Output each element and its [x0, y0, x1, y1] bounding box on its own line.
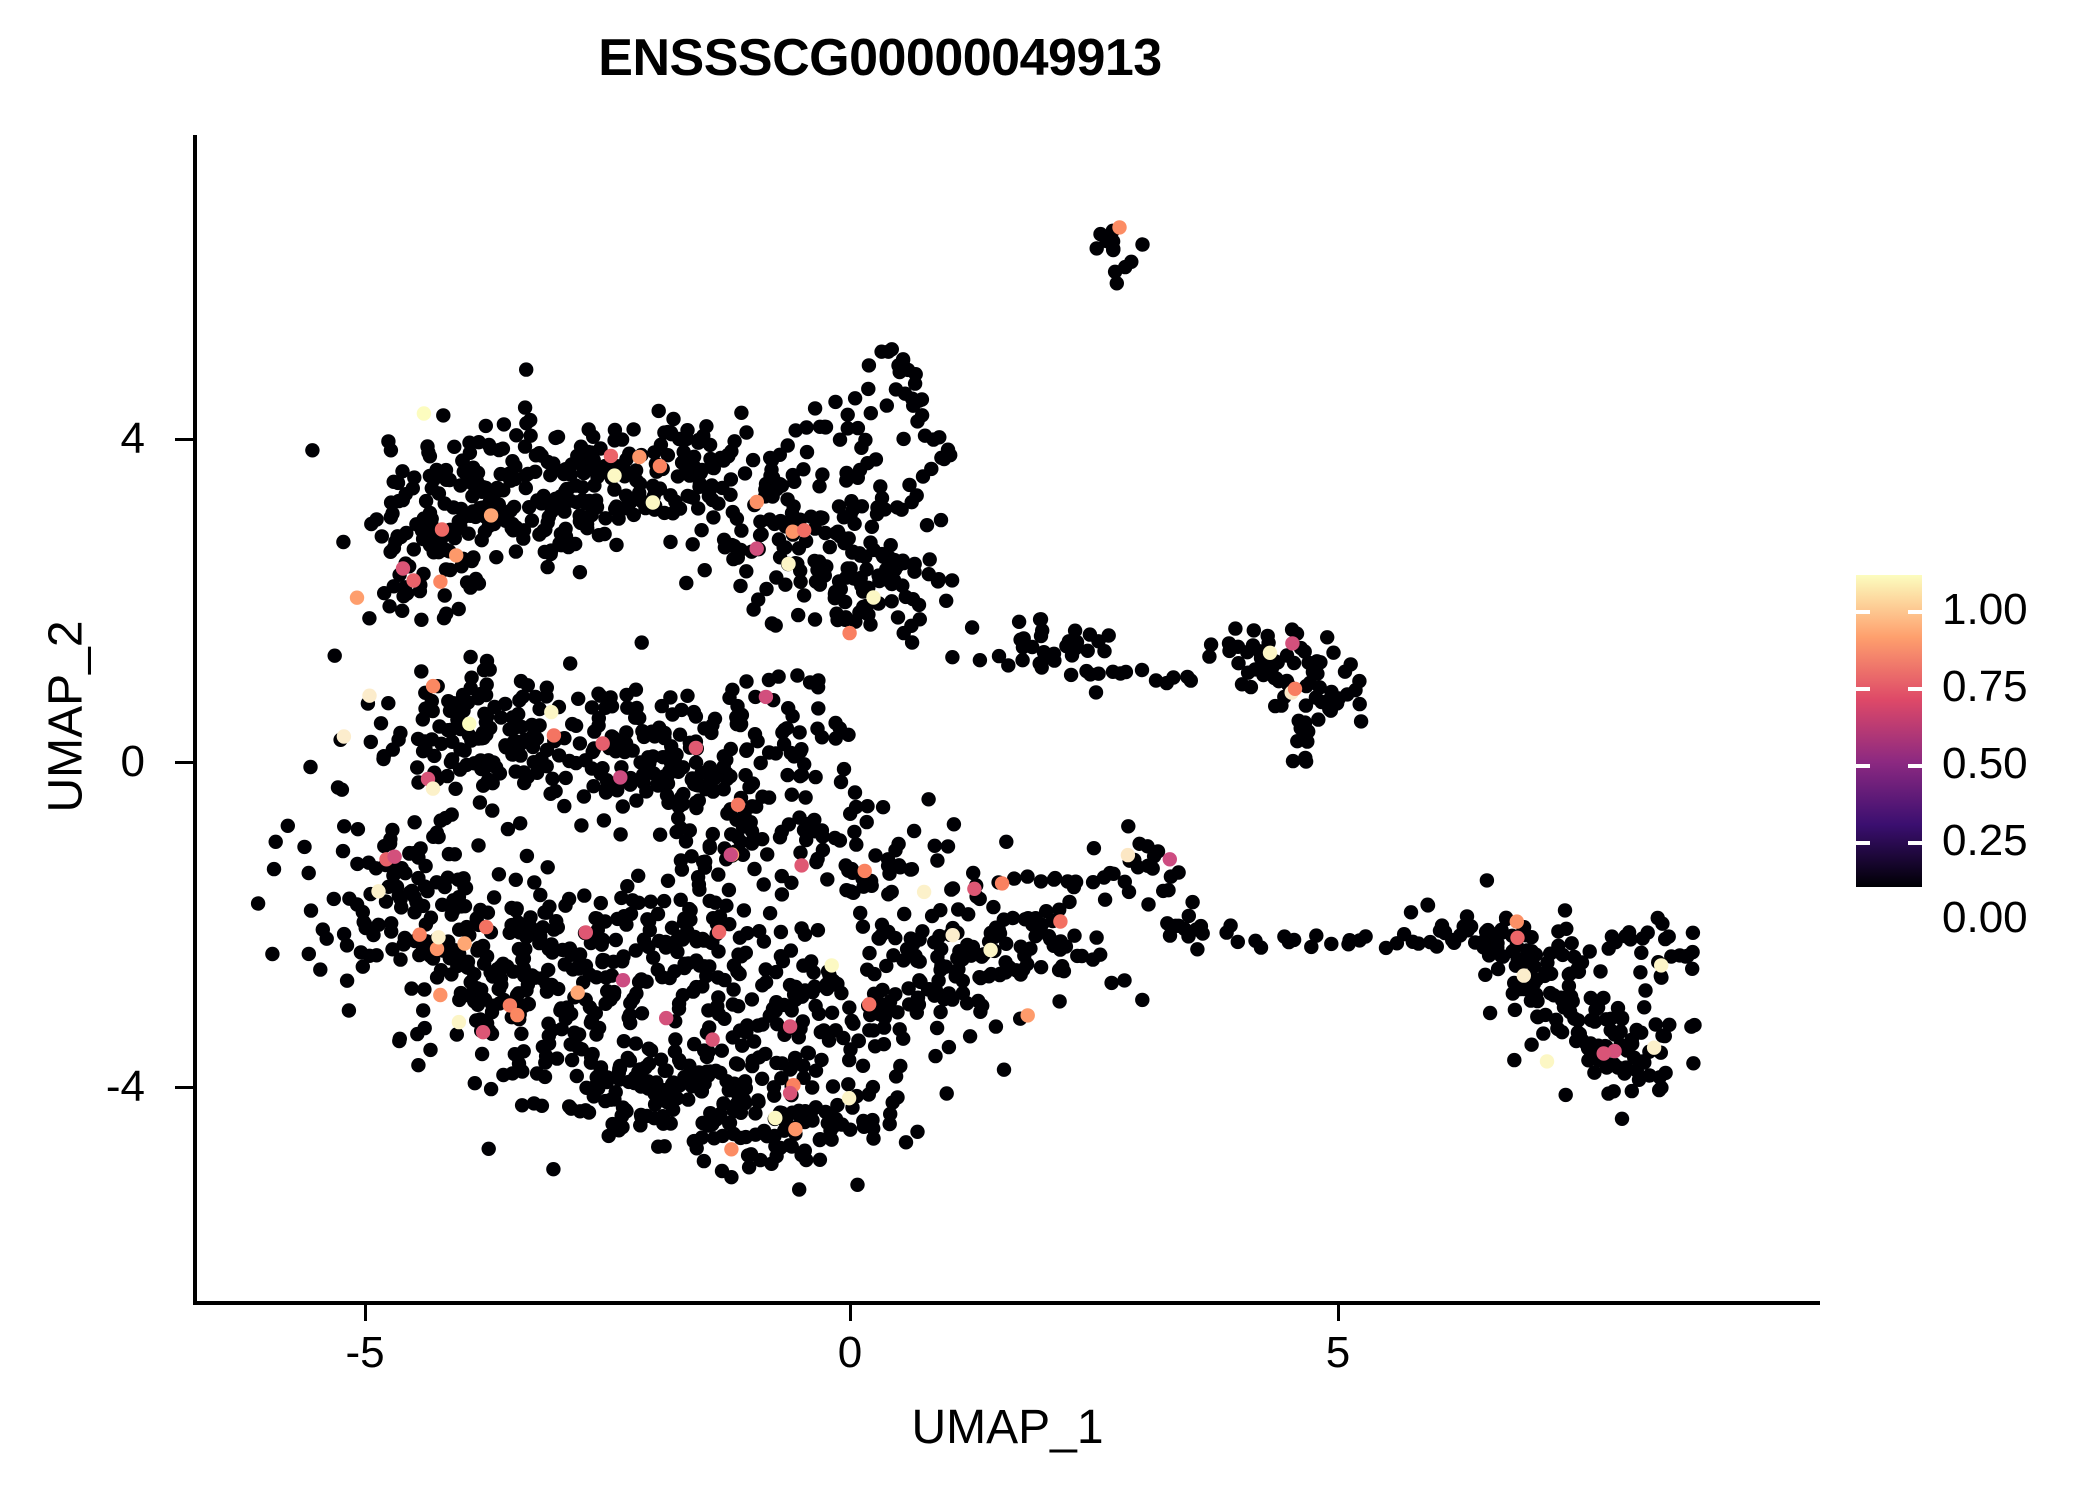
scatter-point: [583, 967, 597, 981]
scatter-point: [593, 766, 607, 780]
scatter-point: [740, 926, 754, 940]
scatter-point: [712, 925, 726, 939]
scatter-point: [815, 511, 829, 525]
scatter-point: [805, 1113, 819, 1127]
scatter-point: [529, 721, 543, 735]
scatter-point: [805, 985, 819, 999]
scatter-point: [1358, 929, 1372, 943]
scatter-point: [1146, 861, 1160, 875]
scatter-point: [879, 959, 893, 973]
scatter-point: [613, 1061, 627, 1075]
scatter-point: [599, 785, 613, 799]
scatter-point: [617, 1034, 631, 1048]
scatter-point: [868, 848, 882, 862]
scatter-point: [527, 875, 541, 889]
scatter-point: [676, 787, 690, 801]
scatter-point: [694, 523, 708, 537]
scatter-point: [679, 576, 693, 590]
scatter-point: [725, 683, 739, 697]
scatter-point: [760, 847, 774, 861]
scatter-point: [350, 857, 364, 871]
scatter-point: [934, 513, 948, 527]
scatter-point: [1642, 1068, 1656, 1082]
scatter-point: [888, 987, 902, 1001]
scatter-point: [1086, 952, 1100, 966]
scatter-point: [515, 953, 529, 967]
scatter-point: [997, 1063, 1011, 1077]
scatter-point: [839, 858, 853, 872]
scatter-point: [414, 613, 428, 627]
scatter-point: [1588, 1003, 1602, 1017]
scatter-point: [690, 778, 704, 792]
scatter-point: [1565, 936, 1579, 950]
scatter-point: [843, 807, 857, 821]
scatter-point: [657, 1139, 671, 1153]
y-tick-mark-0: [175, 761, 193, 764]
scatter-point: [861, 382, 875, 396]
scatter-point: [724, 1142, 738, 1156]
scatter-point: [461, 988, 475, 1002]
scatter-point: [904, 619, 918, 633]
scatter-point: [547, 922, 561, 936]
scatter-point: [1559, 1088, 1573, 1102]
scatter-point: [925, 909, 939, 923]
legend-tick-1: [1856, 610, 1922, 614]
scatter-point: [847, 517, 861, 531]
scatter-point: [1035, 660, 1049, 674]
scatter-point: [558, 899, 572, 913]
scatter-point: [793, 846, 807, 860]
scatter-point: [859, 562, 873, 576]
scatter-point: [666, 412, 680, 426]
scatter-point: [798, 790, 812, 804]
scatter-point: [1309, 928, 1323, 942]
scatter-point: [748, 1106, 762, 1120]
scatter-point: [639, 784, 653, 798]
scatter-point: [1185, 895, 1199, 909]
scatter-point: [1636, 931, 1650, 945]
scatter-point: [519, 930, 533, 944]
scatter-point: [525, 513, 539, 527]
scatter-point: [965, 620, 979, 634]
scatter-point: [811, 680, 825, 694]
scatter-point: [666, 1103, 680, 1117]
scatter-point: [429, 463, 443, 477]
scatter-point: [479, 920, 493, 934]
y-tick-mark-minus4: [175, 1086, 193, 1089]
scatter-point: [881, 573, 895, 587]
scatter-point: [785, 788, 799, 802]
scatter-point: [880, 398, 894, 412]
scatter-point: [597, 953, 611, 967]
scatter-point: [1231, 935, 1245, 949]
scatter-point: [825, 958, 839, 972]
scatter-point: [913, 954, 927, 968]
scatter-point: [689, 953, 703, 967]
scatter-point: [1121, 848, 1135, 862]
scatter-point: [528, 690, 542, 704]
scatter-point: [518, 400, 532, 414]
legend-label-075: 0.75: [1942, 665, 2028, 709]
scatter-point: [745, 992, 759, 1006]
scatter-point: [598, 997, 612, 1011]
scatter-point: [869, 452, 883, 466]
scatter-point: [590, 911, 604, 925]
scatter-point: [1686, 926, 1700, 940]
scatter-point: [503, 472, 517, 486]
scatter-point: [841, 421, 855, 435]
scatter-point: [471, 838, 485, 852]
scatter-point: [350, 897, 364, 911]
scatter-point: [808, 770, 822, 784]
scatter-point: [871, 931, 885, 945]
scatter-point: [852, 1034, 866, 1048]
scatter-point: [832, 499, 846, 513]
scatter-point: [1014, 940, 1028, 954]
scatter-point: [416, 1003, 430, 1017]
scatter-point: [626, 422, 640, 436]
scatter-point: [411, 871, 425, 885]
scatter-point: [773, 514, 787, 528]
scatter-point: [340, 938, 354, 952]
scatter-point: [267, 862, 281, 876]
scatter-point: [446, 500, 460, 514]
scatter-point: [1524, 930, 1538, 944]
scatter-point: [503, 926, 517, 940]
scatter-point: [1567, 1011, 1581, 1025]
scatter-point: [1655, 917, 1669, 931]
scatter-point: [447, 440, 461, 454]
scatter-point: [728, 1099, 742, 1113]
scatter-point: [1015, 653, 1029, 667]
scatter-point: [842, 1091, 856, 1105]
scatter-point: [477, 663, 491, 677]
scatter-point: [351, 822, 365, 836]
scatter-point: [587, 478, 601, 492]
scatter-point: [648, 483, 662, 497]
scatter-point: [510, 1008, 524, 1022]
scatter-point: [945, 650, 959, 664]
scatter-point: [793, 575, 807, 589]
scatter-point: [878, 502, 892, 516]
scatter-point: [1285, 636, 1299, 650]
scatter-point: [842, 1000, 856, 1014]
scatter-point: [731, 1057, 745, 1071]
scatter-point: [865, 520, 879, 534]
scatter-point: [828, 716, 842, 730]
scatter-point: [1348, 683, 1362, 697]
scatter-point: [946, 881, 960, 895]
scatter-point: [1117, 973, 1131, 987]
scatter-point: [731, 798, 745, 812]
scatter-point: [931, 973, 945, 987]
scatter-point: [812, 1007, 826, 1021]
scatter-point: [445, 735, 459, 749]
scatter-point: [1637, 1055, 1651, 1069]
scatter-point: [739, 564, 753, 578]
scatter-point: [342, 1003, 356, 1017]
scatter-point: [592, 1021, 606, 1035]
scatter-point: [723, 488, 737, 502]
scatter-point: [845, 1014, 859, 1028]
scatter-point: [808, 401, 822, 415]
scatter-point: [670, 945, 684, 959]
scatter-point: [1171, 865, 1185, 879]
scatter-point: [1231, 656, 1245, 670]
scatter-point: [1354, 714, 1368, 728]
scatter-point: [755, 832, 769, 846]
scatter-point: [415, 524, 429, 538]
scatter-point: [1508, 1003, 1522, 1017]
scatter-point: [927, 989, 941, 1003]
scatter-point: [1615, 1012, 1629, 1026]
scatter-point: [473, 795, 487, 809]
scatter-point: [742, 1160, 756, 1174]
scatter-point: [1135, 663, 1149, 677]
scatter-point: [778, 540, 792, 554]
scatter-point: [863, 617, 877, 631]
scatter-point: [1298, 715, 1312, 729]
scatter-point: [609, 933, 623, 947]
scatter-point: [639, 1074, 653, 1088]
scatter-point: [928, 1049, 942, 1063]
scatter-point: [375, 529, 389, 543]
scatter-point: [430, 970, 444, 984]
scatter-point: [951, 902, 965, 916]
scatter-point: [573, 509, 587, 523]
scatter-point: [356, 960, 370, 974]
scatter-point: [773, 477, 787, 491]
scatter-point: [912, 973, 926, 987]
scatter-point: [302, 947, 316, 961]
scatter-point: [362, 689, 376, 703]
scatter-point: [862, 358, 876, 372]
scatter-point: [705, 478, 719, 492]
scatter-point: [839, 610, 853, 624]
scatter-point: [613, 827, 627, 841]
scatter-point: [813, 1132, 827, 1146]
scatter-point: [464, 733, 478, 747]
scatter-point: [412, 928, 426, 942]
scatter-point: [860, 963, 874, 977]
scatter-point: [769, 746, 783, 760]
scatter-point: [403, 885, 417, 899]
scatter-point: [856, 920, 870, 934]
scatter-point: [444, 967, 458, 981]
scatter-point: [891, 610, 905, 624]
scatter-point: [550, 501, 564, 515]
scatter-point: [1184, 673, 1198, 687]
scatter-point: [452, 1015, 466, 1029]
scatter-point: [674, 893, 688, 907]
scatter-point: [475, 485, 489, 499]
scatter-point: [657, 894, 671, 908]
scatter-point: [479, 715, 493, 729]
scatter-point: [703, 841, 717, 855]
scatter-point: [1540, 1054, 1554, 1068]
scatter-point: [983, 943, 997, 957]
scatter-point: [712, 1007, 726, 1021]
scatter-point: [896, 352, 910, 366]
scatter-point: [1637, 1000, 1651, 1014]
scatter-point: [1524, 1038, 1538, 1052]
scatter-point: [1555, 1025, 1569, 1039]
scatter-point: [591, 718, 605, 732]
scatter-point: [1132, 837, 1146, 851]
scatter-point: [1404, 905, 1418, 919]
scatter-point: [750, 495, 764, 509]
scatter-point: [941, 839, 955, 853]
scatter-point: [1156, 884, 1170, 898]
scatter-point: [923, 552, 937, 566]
scatter-point: [796, 1014, 810, 1028]
scatter-point: [571, 985, 585, 999]
scatter-point: [890, 500, 904, 514]
scatter-point: [527, 1096, 541, 1110]
scatter-point: [924, 462, 938, 476]
scatter-point: [998, 965, 1012, 979]
scatter-point: [577, 789, 591, 803]
scatter-point: [570, 948, 584, 962]
scatter-point: [1662, 1018, 1676, 1032]
scatter-point: [850, 1178, 864, 1192]
scatter-point: [814, 1053, 828, 1067]
scatter-point: [734, 523, 748, 537]
scatter-point: [788, 1122, 802, 1136]
scatter-point: [823, 540, 837, 554]
scatter-point: [746, 1054, 760, 1068]
scatter-point: [413, 841, 427, 855]
scatter-point: [1001, 658, 1015, 672]
scatter-point: [785, 1003, 799, 1017]
scatter-point: [841, 1077, 855, 1091]
scatter-point: [739, 674, 753, 688]
scatter-point: [475, 1047, 489, 1061]
scatter-point: [587, 453, 601, 467]
scatter-point: [585, 700, 599, 714]
scatter-point: [1353, 697, 1367, 711]
scatter-point: [739, 1025, 753, 1039]
scatter-point: [739, 425, 753, 439]
scatter-point: [1478, 968, 1492, 982]
scatter-point: [706, 510, 720, 524]
scatter-point: [769, 618, 783, 632]
scatter-point: [384, 924, 398, 938]
scatter-point: [905, 635, 919, 649]
scatter-point: [651, 963, 665, 977]
scatter-point: [387, 850, 401, 864]
legend-label-025: 0.25: [1942, 819, 2028, 863]
scatter-point: [1638, 983, 1652, 997]
scatter-point: [726, 552, 740, 566]
scatter-point: [797, 757, 811, 771]
scatter-point: [509, 873, 523, 887]
scatter-point: [899, 1135, 913, 1149]
scatter-point: [1190, 942, 1204, 956]
scatter-point: [697, 1154, 711, 1168]
scatter-point: [1658, 1066, 1672, 1080]
scatter-point: [765, 453, 779, 467]
scatter-point: [493, 766, 507, 780]
scatter-point: [1067, 929, 1081, 943]
scatter-point: [485, 999, 499, 1013]
scatter-point: [711, 867, 725, 881]
scatter-point: [780, 768, 794, 782]
scatter-point: [705, 1032, 719, 1046]
scatter-point: [391, 476, 405, 490]
scatter-point: [1204, 637, 1218, 651]
scatter-point: [513, 816, 527, 830]
scatter-point: [843, 1123, 857, 1137]
scatter-point: [1021, 1008, 1035, 1022]
scatter-point: [562, 754, 576, 768]
scatter-point: [1097, 644, 1111, 658]
x-tick-mark-5: [1337, 1303, 1340, 1321]
y-axis-title: UMAP_2: [39, 417, 94, 1017]
scatter-point: [963, 1029, 977, 1043]
scatter-point: [828, 395, 842, 409]
scatter-point: [689, 755, 703, 769]
scatter-point: [573, 736, 587, 750]
scatter-point: [811, 923, 825, 937]
scatter-point: [582, 422, 596, 436]
scatter-point: [648, 729, 662, 743]
scatter-point: [362, 611, 376, 625]
scatter-point: [383, 545, 397, 559]
scatter-point: [733, 949, 747, 963]
scatter-point: [519, 362, 533, 376]
scatter-point: [493, 960, 507, 974]
scatter-point: [737, 903, 751, 917]
scatter-point: [1633, 965, 1647, 979]
scatter-point: [407, 815, 421, 829]
scatter-point: [943, 448, 957, 462]
scatter-point: [516, 690, 530, 704]
scatter-point: [810, 852, 824, 866]
x-tick-label-0: 0: [770, 1331, 930, 1375]
color-legend: 1.00 0.75 0.50 0.25 0.00: [1856, 575, 2096, 895]
scatter-point: [570, 1069, 584, 1083]
scatter-point: [426, 781, 440, 795]
scatter-point: [400, 586, 414, 600]
scatter-point: [632, 450, 646, 464]
scatter-point: [251, 896, 265, 910]
scatter-point: [646, 950, 660, 964]
scatter-point: [1018, 912, 1032, 926]
scatter-point: [811, 701, 825, 715]
scatter-point: [818, 526, 832, 540]
scatter-point: [842, 626, 856, 640]
scatter-point: [404, 981, 418, 995]
scatter-point: [1166, 670, 1180, 684]
scatter-point: [387, 579, 401, 593]
scatter-point: [620, 879, 634, 893]
scatter-point: [930, 934, 944, 948]
scatter-point: [727, 434, 741, 448]
scatter-point: [881, 852, 895, 866]
scatter-point: [1685, 945, 1699, 959]
scatter-point: [1135, 993, 1149, 1007]
scatter-point: [406, 573, 420, 587]
scatter-point: [791, 608, 805, 622]
scatter-points-layer: [195, 135, 1820, 1303]
scatter-point: [1558, 903, 1572, 917]
scatter-point: [1135, 237, 1149, 251]
scatter-point: [1089, 930, 1103, 944]
scatter-point: [376, 752, 390, 766]
scatter-point: [521, 467, 535, 481]
scatter-point: [1324, 937, 1338, 951]
